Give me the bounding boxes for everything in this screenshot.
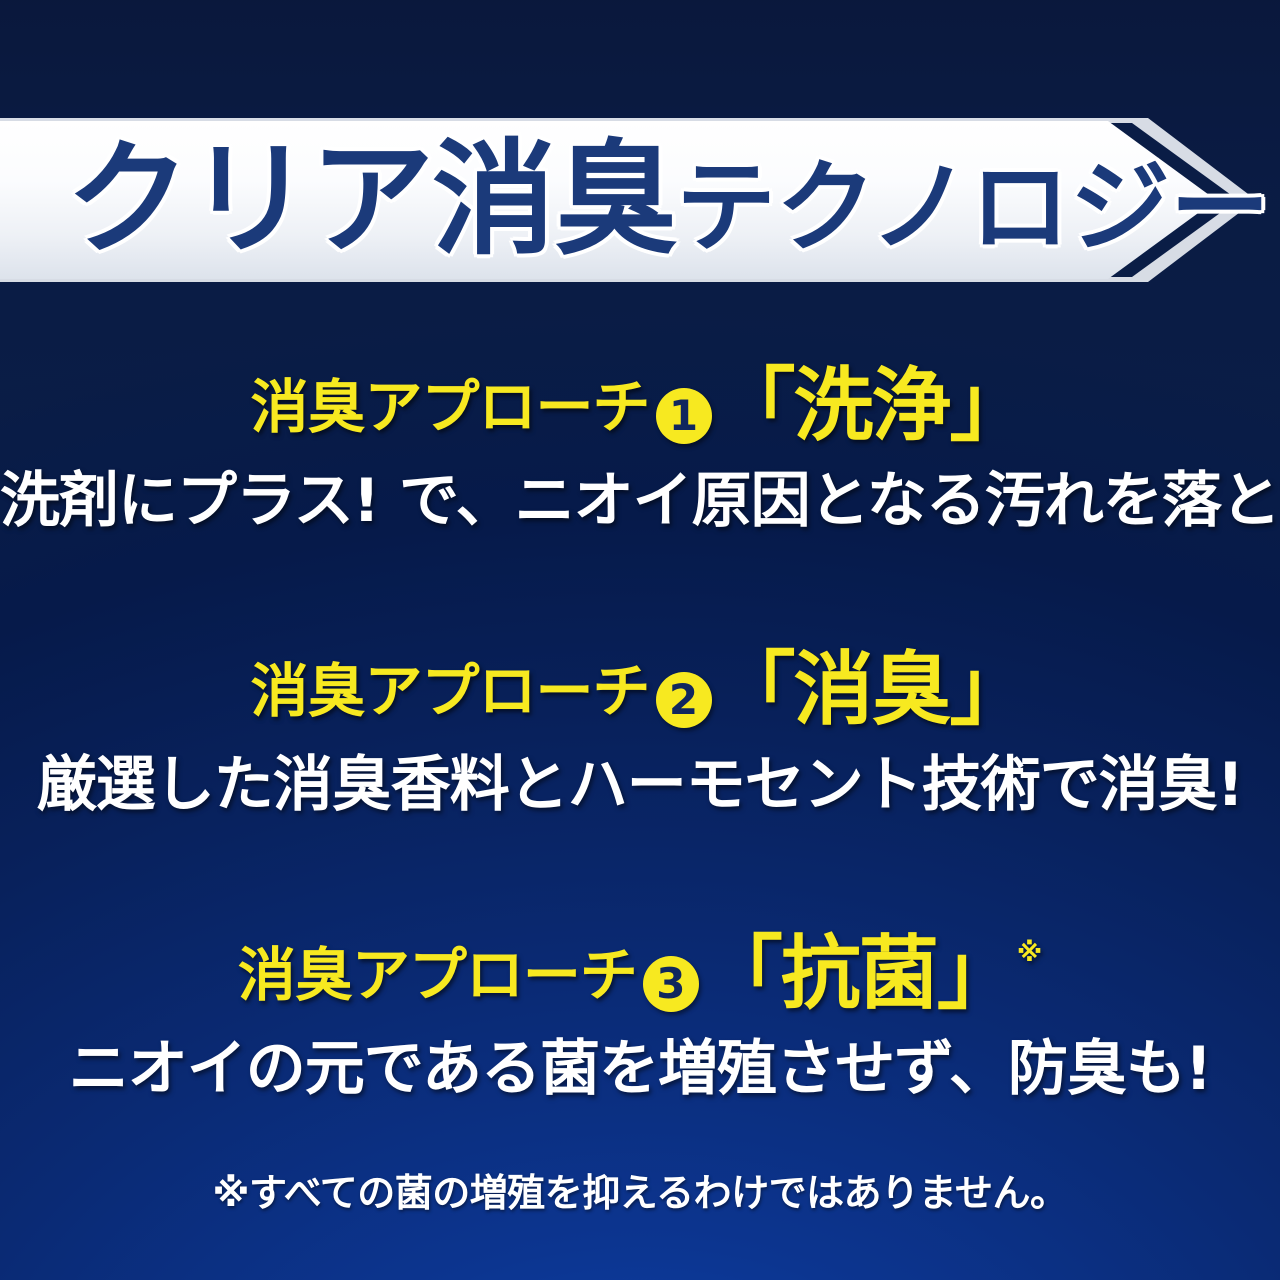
approach-block-1: 消臭アプローチ1「洗浄」 洗剤にプラス! で、ニオイ原因となる汚れを落とす。 bbox=[0, 366, 1280, 533]
approach-note-mark-3: ※ bbox=[1017, 938, 1042, 968]
approach-number-badge-2: 2 bbox=[656, 672, 712, 728]
approach-lead-2: 消臭アプローチ bbox=[250, 657, 649, 725]
page-title-tech: テクノロジー bbox=[676, 149, 1270, 266]
approach-block-2: 消臭アプローチ2「消臭」 厳選した消臭香料とハーモセント技術で消臭! bbox=[0, 650, 1280, 817]
approach-body-3: ニオイの元である菌を増殖させず、防臭も! bbox=[0, 1038, 1280, 1101]
footnote-text: ※すべての菌の増殖を抑えるわけではありません。 bbox=[0, 1162, 1280, 1217]
approach-body-1: 洗剤にプラス! で、ニオイ原因となる汚れを落とす。 bbox=[0, 470, 1280, 533]
approach-heading-3: 消臭アプローチ3「抗菌」※ bbox=[0, 934, 1280, 1014]
approach-heading-1: 消臭アプローチ1「洗浄」 bbox=[0, 366, 1280, 446]
approach-body-2: 厳選した消臭香料とハーモセント技術で消臭! bbox=[0, 754, 1280, 817]
page-title: クリア消臭テクノロジー bbox=[66, 138, 1270, 262]
page-title-main: クリア消臭 bbox=[66, 128, 676, 272]
approach-lead-1: 消臭アプローチ bbox=[250, 373, 649, 441]
approach-term-2: 「消臭」 bbox=[716, 643, 1028, 736]
approach-term-1: 「洗浄」 bbox=[716, 359, 1028, 452]
approach-block-3: 消臭アプローチ3「抗菌」※ ニオイの元である菌を増殖させず、防臭も! bbox=[0, 934, 1280, 1101]
approach-lead-3: 消臭アプローチ bbox=[238, 941, 637, 1009]
poster-root: クリア消臭テクノロジー 消臭アプローチ1「洗浄」 洗剤にプラス! で、ニオイ原因… bbox=[0, 0, 1280, 1280]
header-banner: クリア消臭テクノロジー bbox=[0, 121, 1256, 279]
approach-number-badge-1: 1 bbox=[656, 388, 712, 444]
approach-number-badge-3: 3 bbox=[643, 956, 699, 1012]
approach-term-3: 「抗菌」 bbox=[703, 927, 1015, 1020]
approach-heading-2: 消臭アプローチ2「消臭」 bbox=[0, 650, 1280, 730]
